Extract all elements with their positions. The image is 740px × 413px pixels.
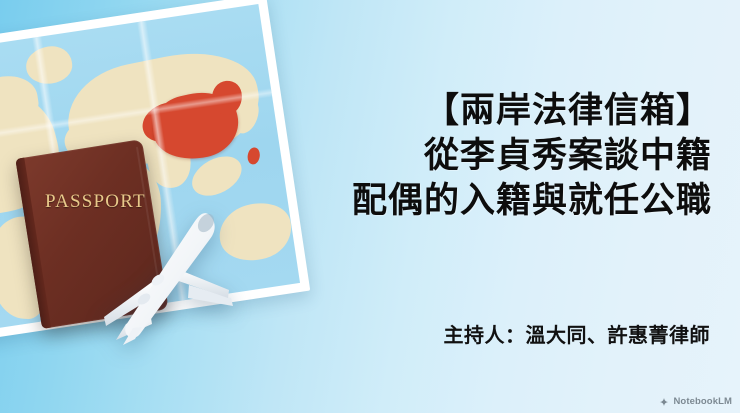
landmass-north-america	[0, 87, 71, 229]
landmass-india	[145, 140, 194, 191]
notebooklm-spark-icon	[659, 397, 669, 407]
airplane-icon	[92, 206, 242, 346]
passport-icon: PASSPORT	[15, 139, 168, 329]
china-highlight-northeast	[208, 76, 247, 117]
map-fold-line-horizontal	[0, 88, 272, 146]
slide-title: 【兩岸法律信箱】 從李貞秀案談中籍 配偶的入籍與就任公職	[242, 88, 712, 223]
map-fold-line	[137, 21, 189, 301]
landmass-africa	[72, 154, 165, 266]
china-highlight-northwest	[137, 97, 193, 148]
landmass-southeast-asia	[185, 148, 248, 203]
title-line-3: 配偶的入籍與就任公職	[242, 178, 712, 223]
presenter-subtitle: 主持人：溫大同、許惠菁律師	[240, 319, 710, 348]
watermark-label: NotebookLM	[673, 396, 732, 407]
title-line-2: 從李貞秀案談中籍	[242, 133, 712, 178]
thumbnail-slide: PASSPORT	[0, 0, 740, 413]
landmass-eurasia	[59, 41, 268, 179]
landmass-south-america	[0, 215, 58, 319]
passport-cover-label: PASSPORT	[45, 191, 146, 213]
landmass-eurasia-south	[61, 106, 154, 169]
map-fold-line	[32, 36, 84, 316]
landmass-north-america-upper	[0, 72, 41, 135]
notebooklm-watermark: NotebookLM	[659, 396, 732, 407]
landmass-greenland	[24, 44, 75, 87]
title-line-1: 【兩岸法律信箱】	[242, 88, 712, 133]
china-highlight-icon	[147, 85, 245, 167]
